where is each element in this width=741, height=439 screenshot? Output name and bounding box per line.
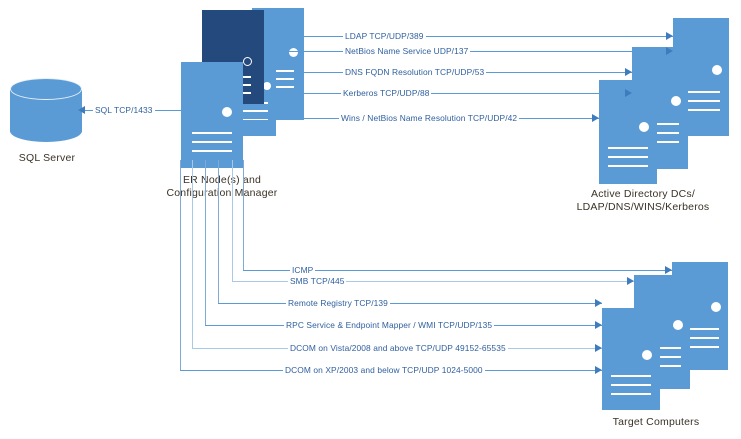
- ad-connector-arrow-ldap: [666, 32, 673, 40]
- target-drop-line-dcom-vista: [192, 160, 193, 348]
- target-connector-arrow-icmp: [665, 266, 672, 274]
- sql-server-node: [10, 78, 82, 144]
- er-node-server-front: [181, 62, 243, 168]
- server-status-light: [711, 302, 721, 312]
- target-drop-line-smb: [232, 160, 233, 281]
- server-slot-bar: [192, 150, 232, 152]
- link-label-ldap: LDAP TCP/UDP/389: [343, 31, 426, 41]
- target-connector-arrow-rpc: [595, 321, 602, 329]
- target-drop-line-dcom-xp: [180, 160, 181, 370]
- ad-connector-arrow-wins: [592, 114, 599, 122]
- ad-connector-arrow-netbios: [666, 47, 673, 55]
- ad-connector-line-kerberos: [276, 93, 632, 94]
- network-diagram-canvas: SQL Server SQL TCP/1433 ER Node(s) and C…: [0, 0, 741, 439]
- ad-connector-arrow-dns: [625, 68, 632, 76]
- server-status-light: [642, 350, 652, 360]
- link-label-dns: DNS FQDN Resolution TCP/UDP/53: [343, 67, 486, 77]
- link-label-netbios: NetBios Name Service UDP/137: [343, 46, 470, 56]
- target-connector-arrow-remote-registry: [595, 299, 602, 307]
- link-label-sql: SQL TCP/1433: [93, 105, 155, 115]
- server-slot-bar: [192, 132, 232, 134]
- sql-connector-arrowhead: [78, 106, 85, 114]
- target-drop-line-icmp: [243, 160, 244, 270]
- server-status-light: [671, 96, 681, 106]
- target-computers-caption: Target Computers: [588, 416, 724, 429]
- server-status-light: [263, 82, 271, 90]
- link-label-kerberos: Kerberos TCP/UDP/88: [341, 88, 431, 98]
- server-status-light: [673, 320, 683, 330]
- target-drop-line-remote-registry: [218, 160, 219, 303]
- link-label-icmp: ICMP: [290, 265, 315, 275]
- server-slot-bar: [611, 393, 651, 395]
- server-slot-bar: [608, 147, 648, 149]
- server-slot-bar: [192, 141, 232, 143]
- target-connector-arrow-smb: [627, 277, 634, 285]
- target-connector-line-remote-registry: [218, 303, 602, 304]
- link-label-dcom-xp: DCOM on XP/2003 and below TCP/UDP 1024-5…: [283, 365, 485, 375]
- active-directory-caption: Active Directory DCs/ LDAP/DNS/WINS/Kerb…: [545, 188, 741, 214]
- server-slot-bar: [608, 156, 648, 158]
- cylinder-top-ellipse: [10, 78, 82, 100]
- server-status-light: [639, 122, 649, 132]
- link-label-smb: SMB TCP/445: [288, 276, 346, 286]
- ad-connector-arrow-kerberos: [625, 89, 632, 97]
- link-label-rpc: RPC Service & Endpoint Mapper / WMI TCP/…: [284, 320, 494, 330]
- er-node-caption: ER Node(s) and Configuration Manager: [152, 174, 292, 200]
- link-label-wins: Wins / NetBios Name Resolution TCP/UDP/4…: [339, 113, 519, 123]
- server-status-light: [289, 48, 298, 57]
- server-slot-bar: [611, 384, 651, 386]
- server-status-light: [712, 65, 722, 75]
- server-slot-bar: [608, 165, 648, 167]
- link-label-dcom-vista: DCOM on Vista/2008 and above TCP/UDP 491…: [288, 343, 508, 353]
- ad-connector-line-netbios: [276, 51, 673, 52]
- target-connector-arrow-dcom-xp: [595, 366, 602, 374]
- target-drop-line-rpc: [205, 160, 206, 325]
- server-status-light: [222, 107, 232, 117]
- server-slot-bar: [611, 375, 651, 377]
- target-connector-arrow-dcom-vista: [595, 344, 602, 352]
- ad-connector-line-ldap: [276, 36, 673, 37]
- sql-server-caption: SQL Server: [6, 152, 88, 165]
- link-label-remote-registry: Remote Registry TCP/139: [286, 298, 390, 308]
- server-status-light: [243, 57, 252, 66]
- target-server-front: [602, 308, 660, 410]
